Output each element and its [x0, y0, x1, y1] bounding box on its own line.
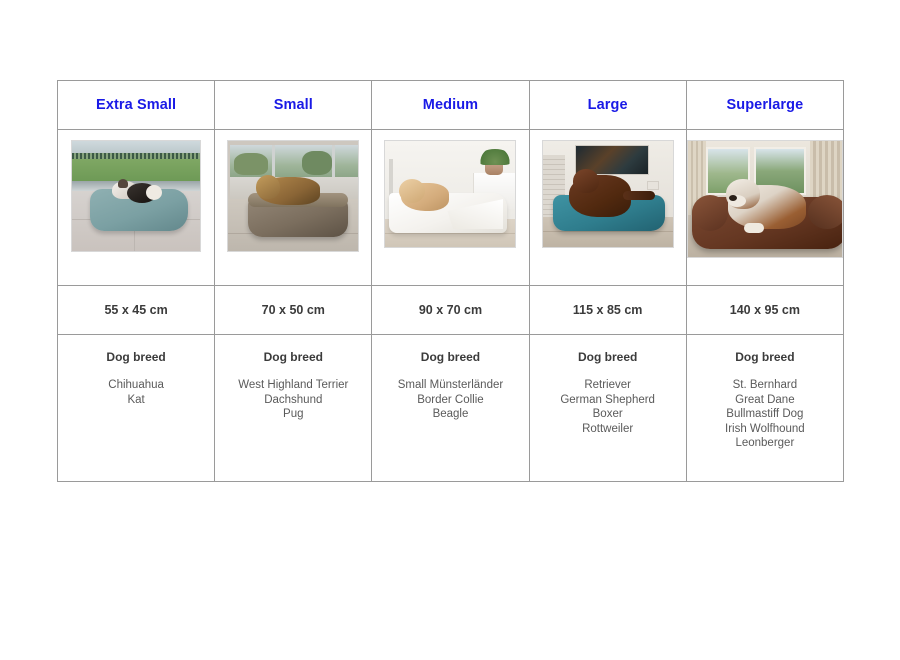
- photo-dog-bed-bolster: [692, 195, 728, 231]
- photo-wrap-medium: [372, 140, 528, 248]
- breed-heading-small: Dog breed: [215, 351, 371, 363]
- photo-wrap-superlarge: [687, 140, 843, 258]
- photo-dog-nose: [729, 195, 737, 201]
- photo-cell-medium: [372, 130, 529, 286]
- photo-floorboard-line: [543, 231, 674, 232]
- dimensions-cell-extra-small: 55 x 45 cm: [58, 286, 215, 335]
- photo-dog-bed-bolster: [808, 195, 843, 229]
- dog-bed-photo-superlarge: [687, 140, 843, 258]
- breed-heading-extra-small: Dog breed: [58, 351, 214, 363]
- breed-item: St. Bernhard: [687, 378, 843, 393]
- dog-bed-photo-extra-small: [71, 140, 201, 252]
- photo-wrap-large: [530, 140, 686, 248]
- breed-list-large: Retriever German Shepherd Boxer Rottweil…: [530, 378, 686, 436]
- breed-item: Bullmastiff Dog: [687, 407, 843, 422]
- dog-bed-photo-medium: [384, 140, 516, 248]
- photo-wrap-small: [215, 140, 371, 252]
- breed-heading-superlarge: Dog breed: [687, 351, 843, 363]
- breed-item: Small Münsterländer: [372, 378, 528, 393]
- photo-dog-tail: [623, 191, 655, 200]
- header-cell-extra-small: Extra Small: [58, 81, 215, 130]
- dog-bed-size-table: Extra Small Small Medium Large Superlarg…: [57, 80, 844, 482]
- breed-item: Rottweiler: [530, 422, 686, 437]
- breed-list-medium: Small Münsterländer Border Collie Beagle: [372, 378, 528, 422]
- size-name-superlarge: Superlarge: [687, 98, 843, 113]
- breed-item: Chihuahua: [58, 378, 214, 393]
- breed-cell-large: Dog breed Retriever German Shepherd Boxe…: [529, 335, 686, 482]
- size-name-extra-small: Extra Small: [58, 98, 214, 113]
- size-header-row: Extra Small Small Medium Large Superlarg…: [58, 81, 844, 130]
- dimensions-small: 70 x 50 cm: [215, 304, 371, 317]
- breed-item: Great Dane: [687, 393, 843, 408]
- photo-pet-head: [118, 179, 128, 188]
- breed-heading-large: Dog breed: [530, 351, 686, 363]
- photo-grass: [72, 159, 201, 181]
- breed-item: Dachshund: [215, 393, 371, 408]
- breed-item: German Shepherd: [530, 393, 686, 408]
- header-cell-superlarge: Superlarge: [686, 81, 843, 130]
- photo-cell-extra-small: [58, 130, 215, 286]
- photo-dog-head: [573, 169, 599, 193]
- header-cell-large: Large: [529, 81, 686, 130]
- breed-list-superlarge: St. Bernhard Great Dane Bullmastiff Dog …: [687, 378, 843, 451]
- dimensions-row: 55 x 45 cm 70 x 50 cm 90 x 70 cm 115 x 8…: [58, 286, 844, 335]
- dimensions-superlarge: 140 x 95 cm: [687, 304, 843, 317]
- photo-plant: [479, 149, 511, 165]
- size-name-large: Large: [530, 98, 686, 113]
- photo-tree: [302, 151, 332, 175]
- photo-floorboard-line: [385, 233, 516, 234]
- breed-item: Pug: [215, 407, 371, 422]
- dimensions-large: 115 x 85 cm: [530, 304, 686, 317]
- size-name-medium: Medium: [372, 98, 528, 113]
- photo-cell-superlarge: [686, 130, 843, 286]
- breed-list-extra-small: Chihuahua Kat: [58, 378, 214, 407]
- photo-cell-large: [529, 130, 686, 286]
- dog-breed-row: Dog breed Chihuahua Kat Dog breed West H…: [58, 335, 844, 482]
- size-chart-page: Extra Small Small Medium Large Superlarg…: [0, 0, 900, 660]
- dimensions-cell-large: 115 x 85 cm: [529, 286, 686, 335]
- photo-cell-small: [215, 130, 372, 286]
- dog-bed-photo-large: [542, 140, 674, 248]
- header-cell-small: Small: [215, 81, 372, 130]
- breed-item: Kat: [58, 393, 214, 408]
- product-photo-row: [58, 130, 844, 286]
- size-name-small: Small: [215, 98, 371, 113]
- breed-item: Beagle: [372, 407, 528, 422]
- dimensions-cell-superlarge: 140 x 95 cm: [686, 286, 843, 335]
- dimensions-extra-small: 55 x 45 cm: [58, 304, 214, 317]
- photo-dog-head: [256, 175, 280, 199]
- breed-item: Leonberger: [687, 436, 843, 451]
- breed-cell-medium: Dog breed Small Münsterländer Border Col…: [372, 335, 529, 482]
- dog-bed-photo-small: [227, 140, 359, 252]
- breed-cell-small: Dog breed West Highland Terrier Dachshun…: [215, 335, 372, 482]
- photo-dog-paw: [744, 223, 764, 233]
- breed-item: Irish Wolfhound: [687, 422, 843, 437]
- dimensions-cell-medium: 90 x 70 cm: [372, 286, 529, 335]
- breed-item: Boxer: [530, 407, 686, 422]
- breed-item: West Highland Terrier: [215, 378, 371, 393]
- breed-item: Retriever: [530, 378, 686, 393]
- dimensions-cell-small: 70 x 50 cm: [215, 286, 372, 335]
- photo-tree: [234, 153, 268, 175]
- photo-wall-socket: [647, 181, 659, 190]
- breed-heading-medium: Dog breed: [372, 351, 528, 363]
- breed-list-small: West Highland Terrier Dachshund Pug: [215, 378, 371, 422]
- breed-cell-superlarge: Dog breed St. Bernhard Great Dane Bullma…: [686, 335, 843, 482]
- photo-wrap-extra-small: [58, 140, 214, 252]
- header-cell-medium: Medium: [372, 81, 529, 130]
- breed-item: Border Collie: [372, 393, 528, 408]
- dimensions-medium: 90 x 70 cm: [372, 304, 528, 317]
- breed-cell-extra-small: Dog breed Chihuahua Kat: [58, 335, 215, 482]
- photo-pet-head: [146, 185, 162, 200]
